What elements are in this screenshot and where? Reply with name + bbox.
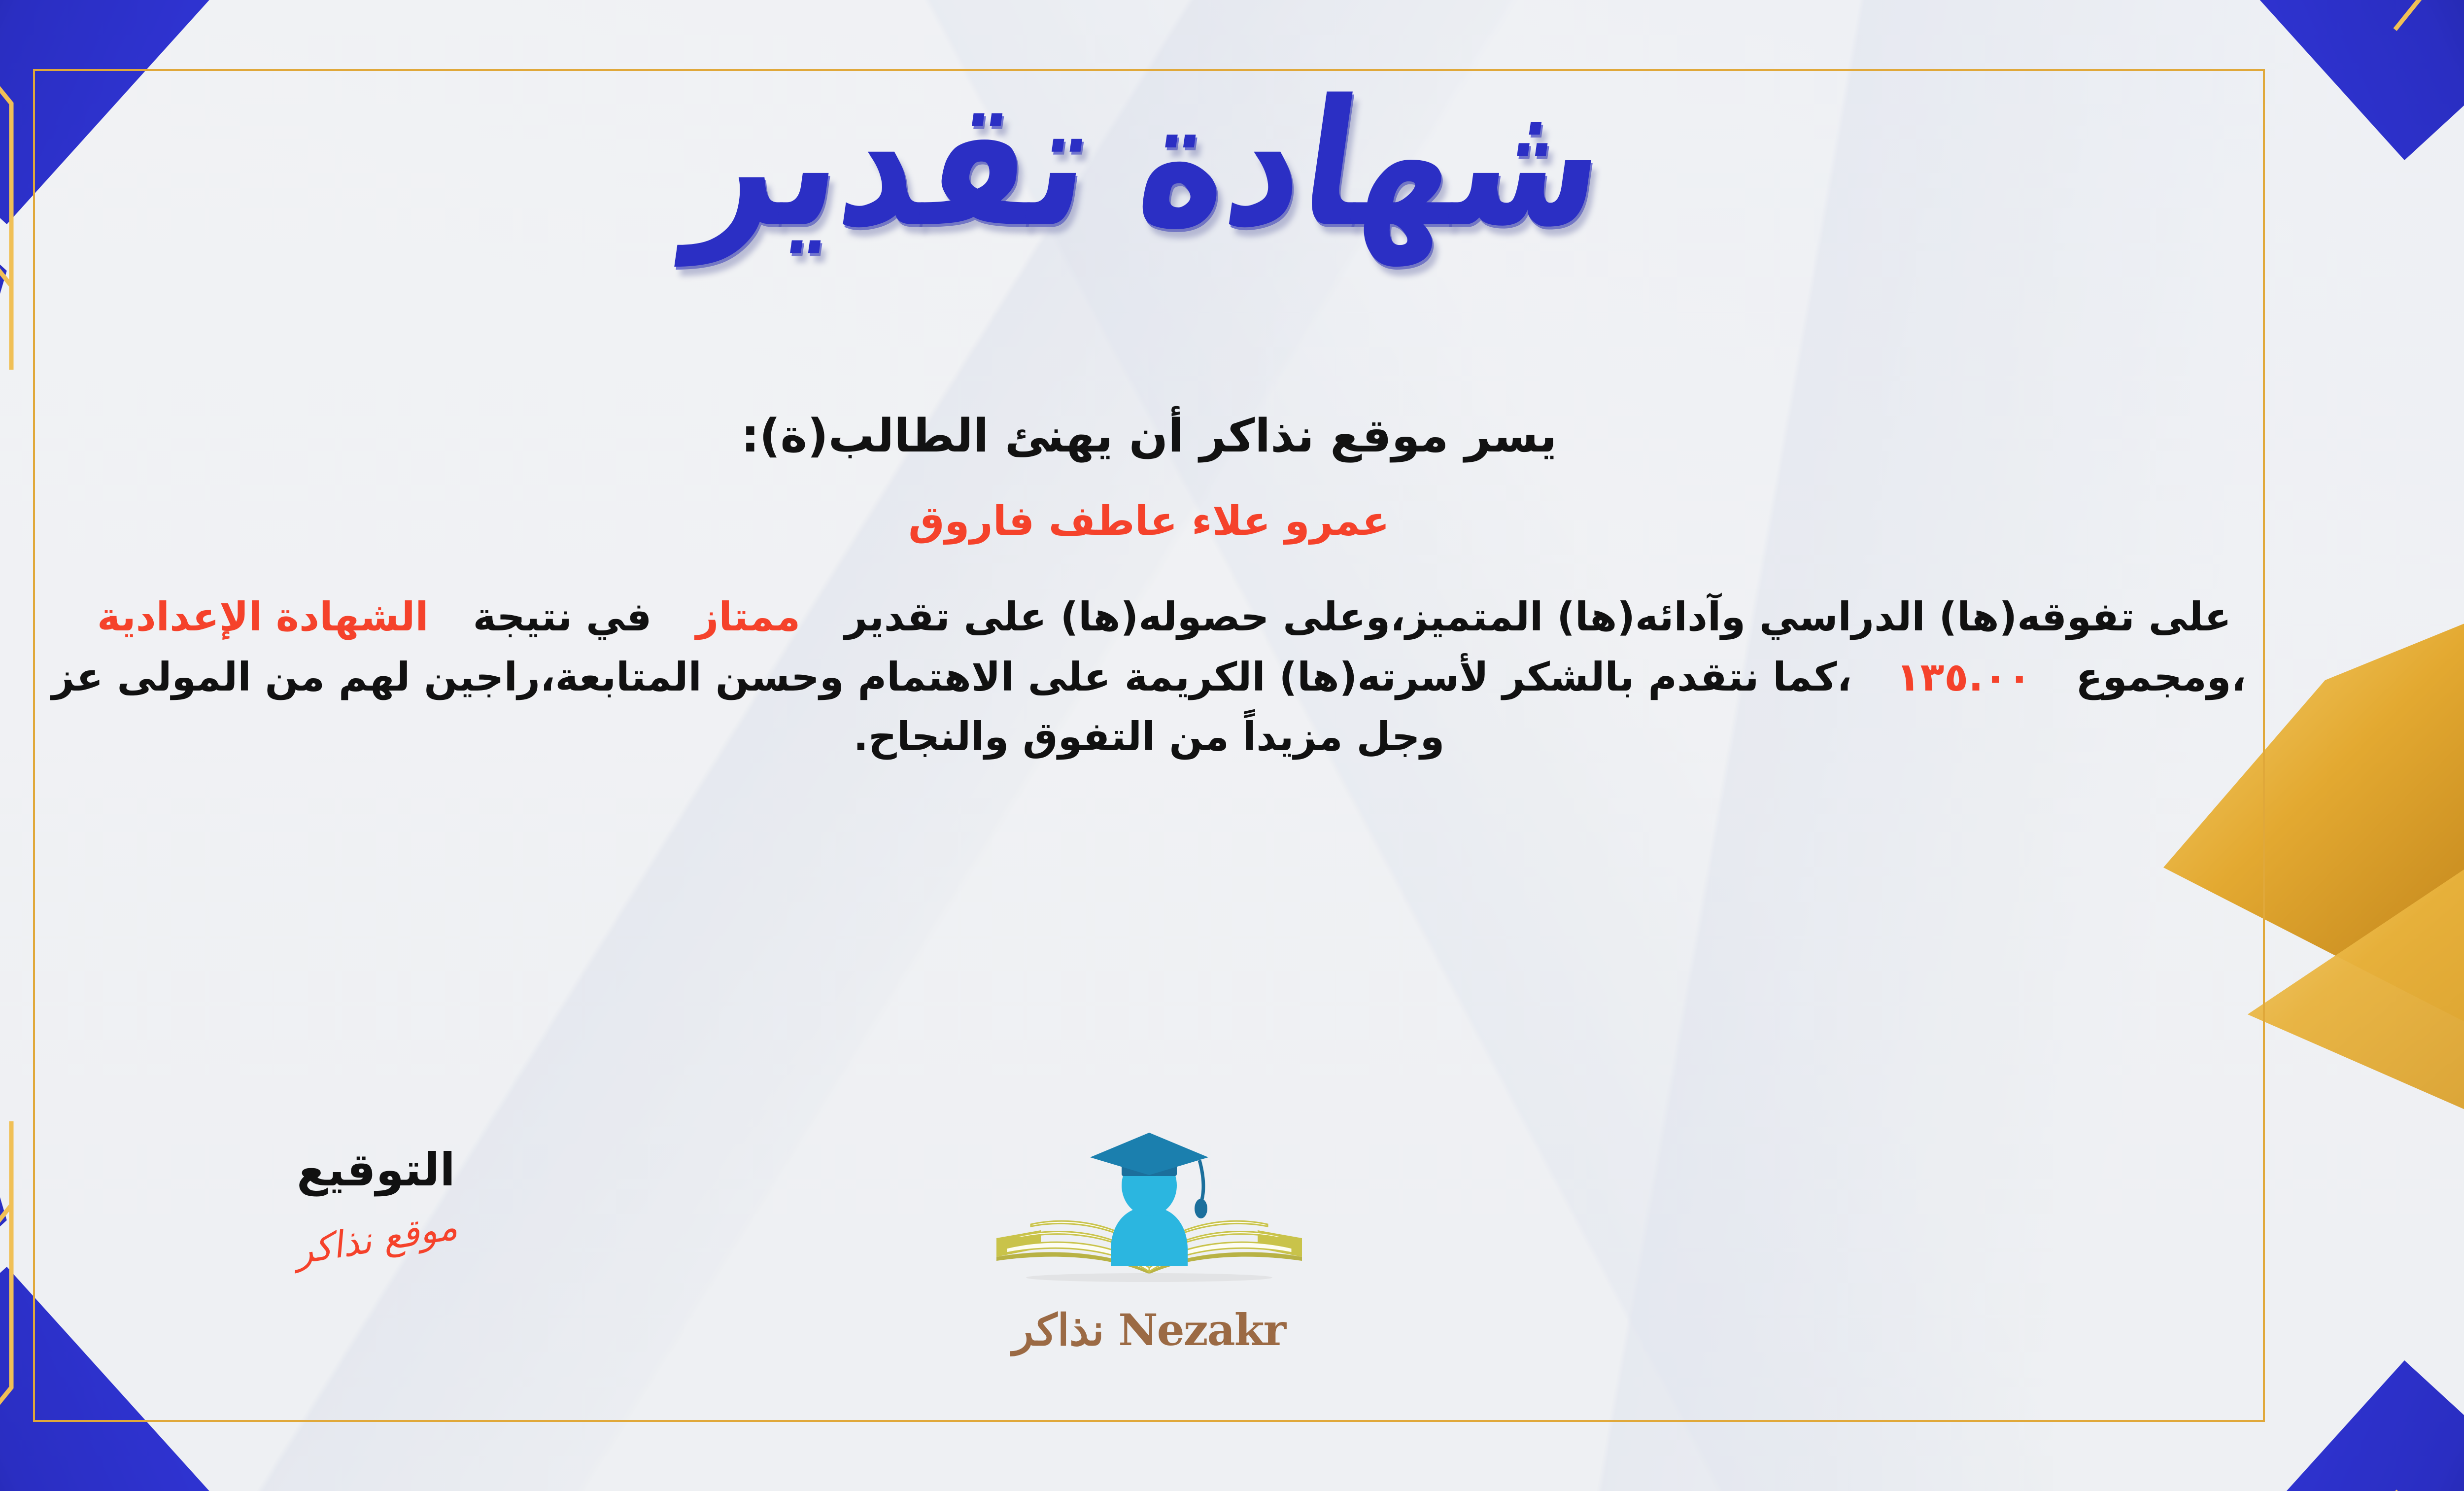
- certificate-body: يسر موقع نذاكر أن يهنئ الطالب(ة): عمرو ع…: [41, 409, 2257, 767]
- citation-segment-4: ،كما نتقدم بالشكر لأسرته(ها) الكريمة على…: [52, 654, 1852, 760]
- signature-mark: موقع نذاكر: [292, 1206, 460, 1273]
- total-score-value: ١٣٥.٠٠: [1896, 654, 2032, 700]
- chevron-band-outer: [2011, 1215, 2464, 1491]
- signature-block: التوقيع موقع نذاكر: [248, 1144, 504, 1260]
- graduate-book-logo-icon: [977, 1124, 1322, 1301]
- signature-label: التوقيع: [248, 1144, 504, 1196]
- certificate-name-value: الشهادة الإعدادية: [97, 594, 429, 640]
- brand-logo-block: Nezakr نذاكر: [967, 1124, 1332, 1355]
- page-title: شهادة تقدير: [682, 72, 1616, 256]
- citation-segment-2: في نتيجة: [473, 594, 652, 640]
- citation-segment-3: ،ومجموع: [2076, 654, 2246, 700]
- corner-decoration-bottom-right: [2011, 1215, 2464, 1491]
- intro-line: يسر موقع نذاكر أن يهنئ الطالب(ة):: [41, 409, 2257, 462]
- grade-value: ممتاز: [696, 594, 800, 640]
- brand-wordmark: Nezakr نذاكر: [967, 1304, 1332, 1355]
- gold-chevron-line-icon: [2011, 1215, 2464, 1491]
- citation-paragraph: على تفوقه(ها) الدراسي وآدائه(ها) المتميز…: [41, 587, 2257, 767]
- certificate-title-area: شهادة تقدير: [0, 86, 2464, 242]
- certificate-page: شهادة تقدير يسر موقع نذاكر أن يهنئ الطال…: [0, 0, 2464, 1491]
- student-name: عمرو علاء عاطف فاروق: [41, 498, 2257, 545]
- citation-segment-1: على تفوقه(ها) الدراسي وآدائه(ها) المتميز…: [845, 594, 2231, 640]
